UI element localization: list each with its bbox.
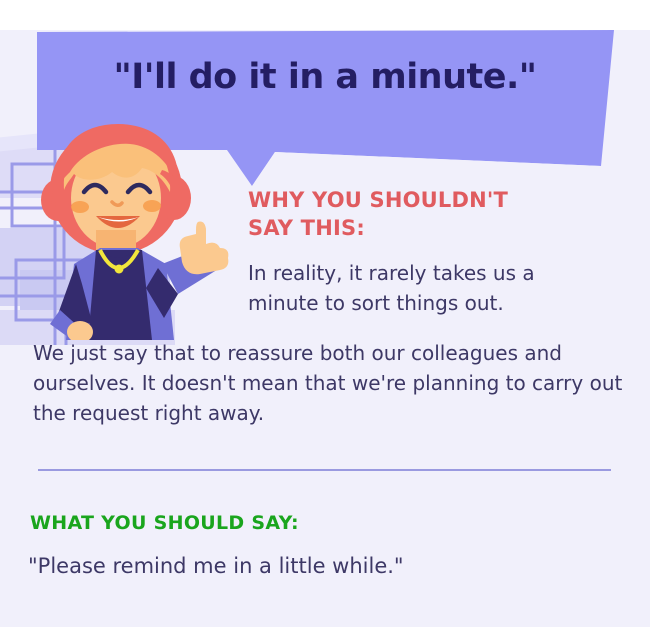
warning-heading-line-2: say this:	[248, 214, 578, 242]
warning-body-full: We just say that to reassure both our co…	[33, 338, 623, 428]
advice-heading: What you should say:	[30, 512, 299, 534]
woman-character-svg	[38, 118, 238, 340]
section-divider	[38, 469, 611, 471]
advice-body: "Please remind me in a little while."	[28, 552, 618, 580]
character-illustration	[38, 118, 238, 340]
warning-heading: Why you shouldn't say this:	[248, 186, 578, 242]
warning-heading-line-1: Why you shouldn't	[248, 186, 578, 214]
infographic-card: "I'll do it in a minute."	[0, 0, 650, 627]
bubble-quote-text: "I'll do it in a minute."	[40, 57, 610, 97]
warning-body-indented: In reality, it rarely takes us a minute …	[248, 258, 588, 318]
